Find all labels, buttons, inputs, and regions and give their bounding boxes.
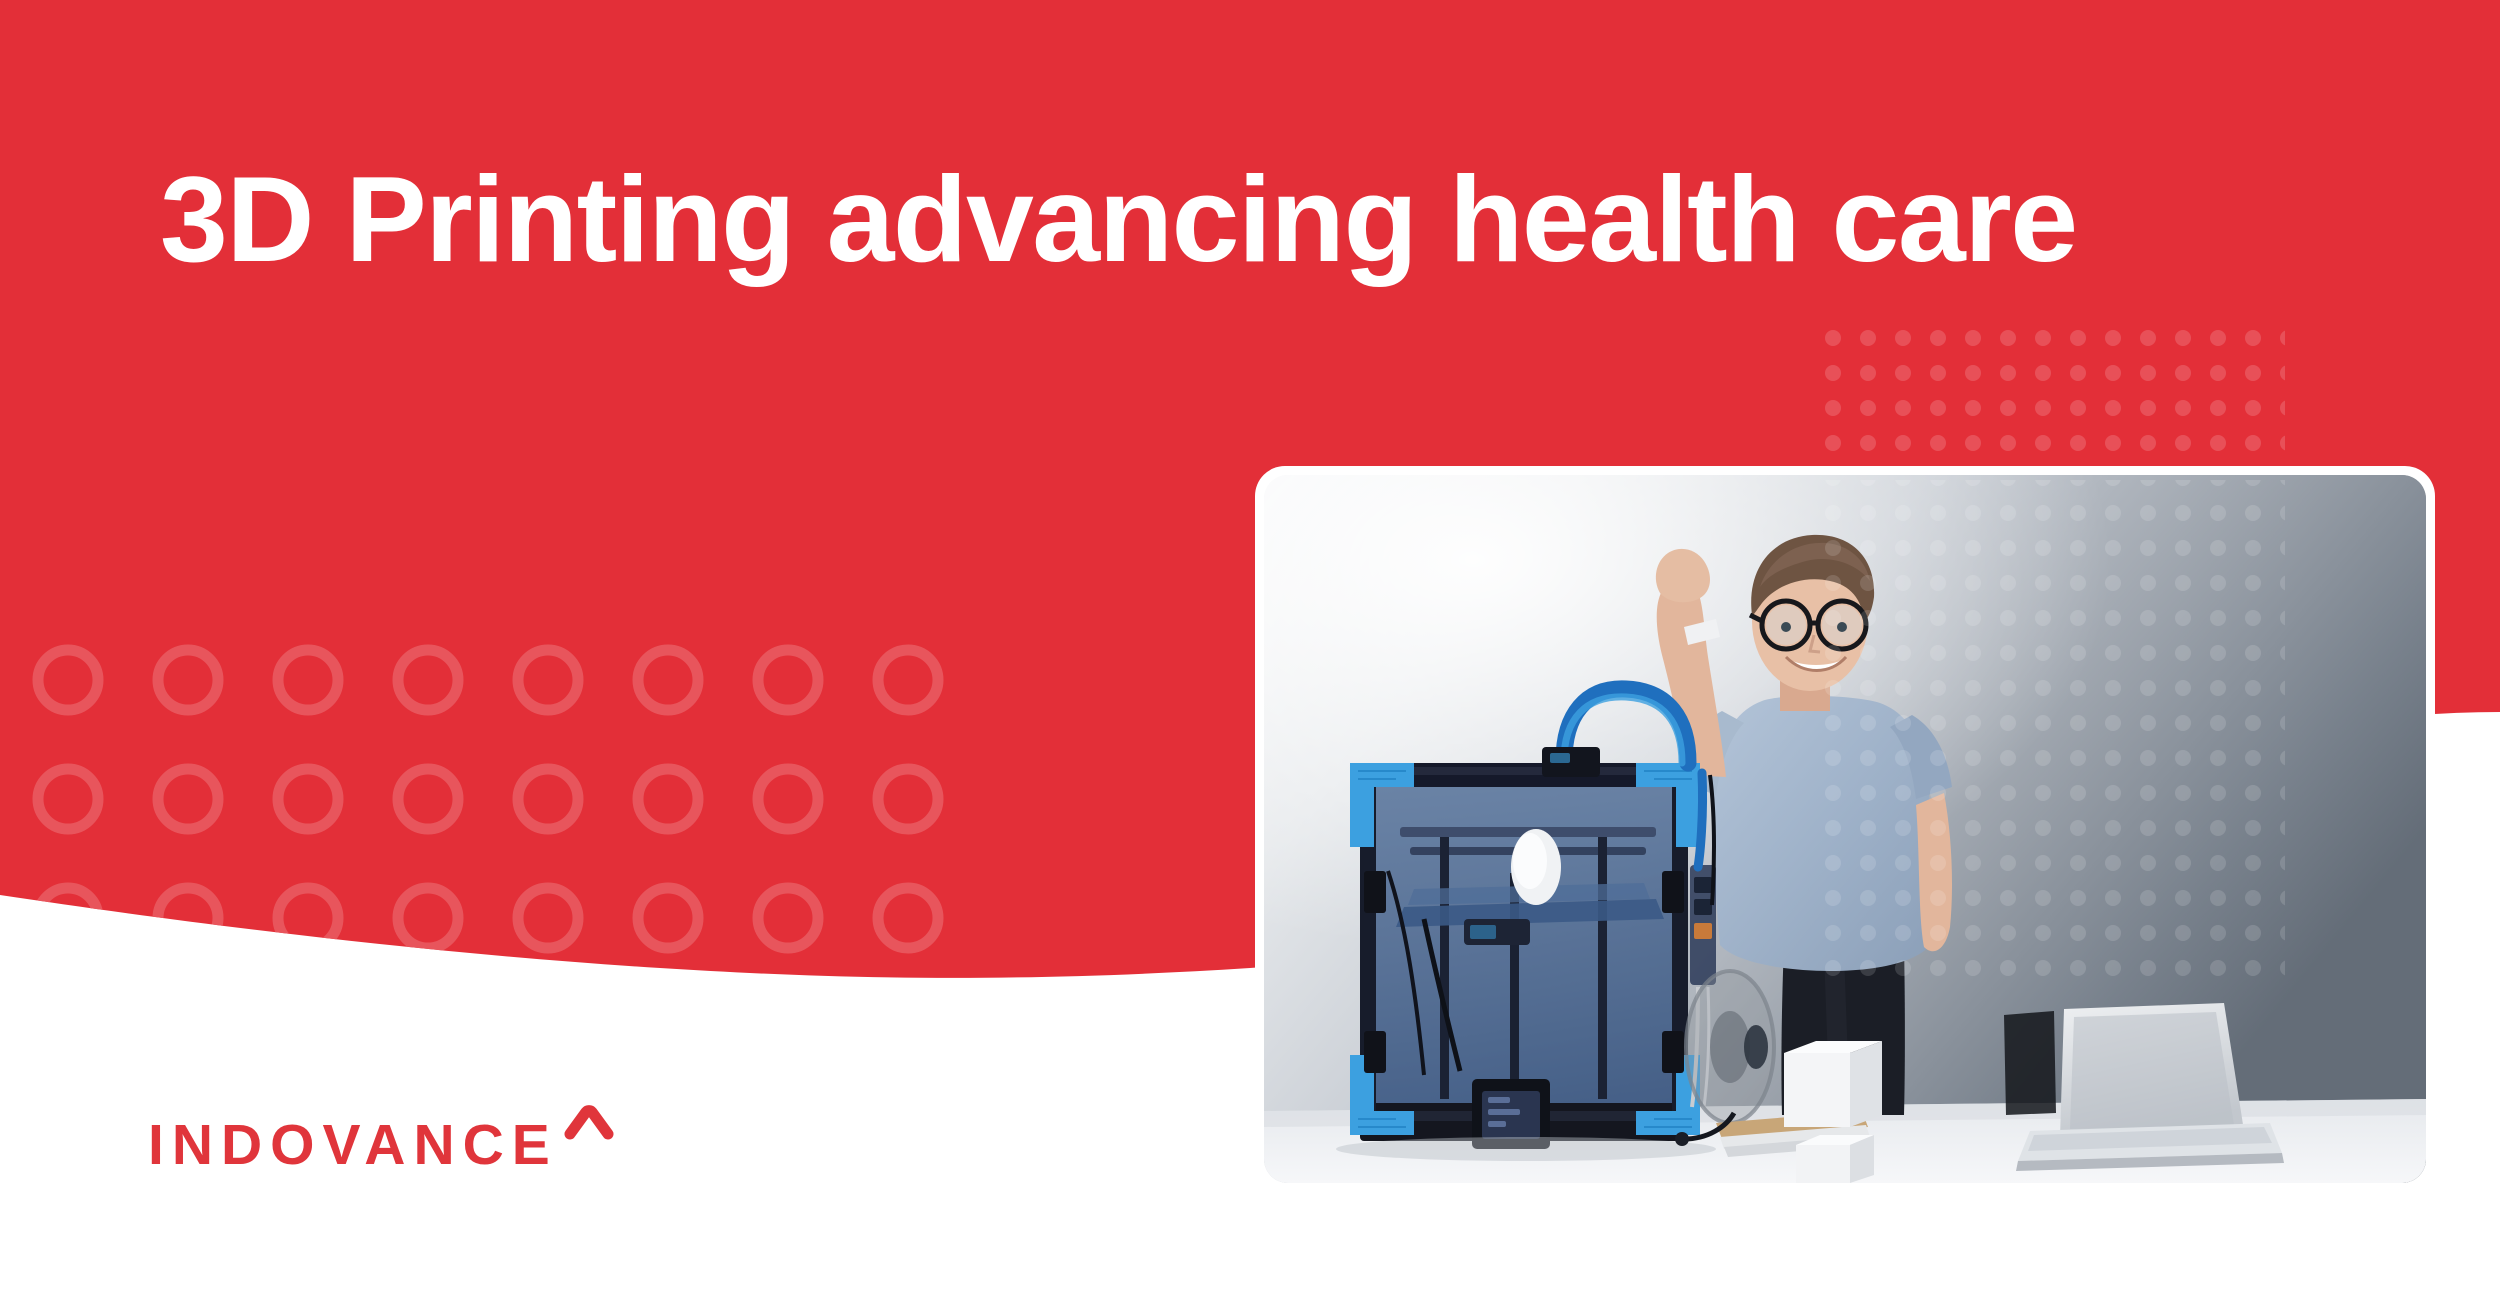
banner-root: 3D Printing advancing health care (0, 0, 2500, 1312)
page-title: 3D Printing advancing health care (160, 148, 2160, 292)
caret-up-icon (562, 1100, 614, 1152)
logo-wordmark: INDOVANCE (148, 1117, 558, 1174)
indovance-logo[interactable]: INDOVANCE (148, 1104, 614, 1174)
hero-photo (1264, 475, 2426, 1183)
hero-photo-card (1255, 466, 2435, 1192)
